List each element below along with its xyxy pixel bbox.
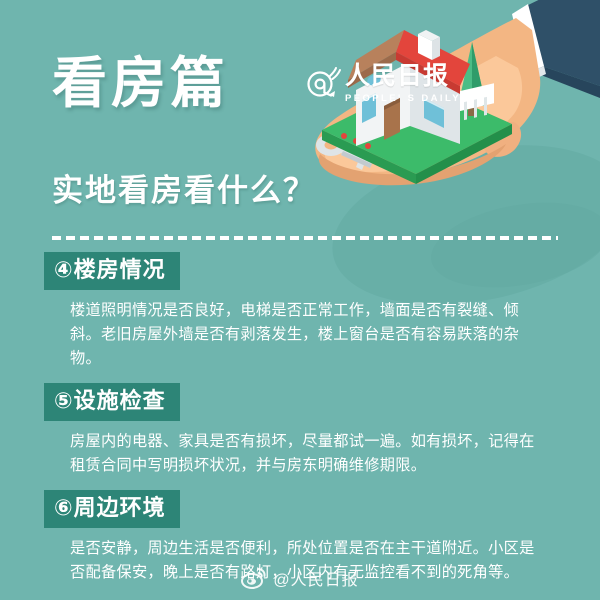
hand-holding-house-illustration: [300, 0, 600, 244]
pine-tree-icon: [458, 42, 486, 116]
section-body: 房屋内的电器、家具是否有损坏，尽量都试一遍。如有损坏，记得在租赁合同中写明损坏状…: [70, 430, 544, 478]
poster-root: 人民日报 PEOPLE' S DAILY 看房篇 实地看房看什么？ ④楼房情况 …: [0, 0, 600, 600]
key-icon: [316, 134, 372, 170]
masthead-logo: 人民日报 PEOPLE' S DAILY: [305, 64, 461, 104]
section-body: 楼道照明情况是否良好，电梯是否正常工作，墙面是否有裂缝、倾斜。老旧房屋外墙是否有…: [70, 299, 544, 371]
section-item: ⑤设施检查 房屋内的电器、家具是否有损坏，尽量都试一遍。如有损坏，记得在租赁合同…: [44, 383, 564, 478]
lawn-flowers: [341, 133, 371, 149]
sub-title: 实地看房看什么？: [52, 175, 316, 206]
brand-name-cn: 人民日报: [345, 64, 461, 89]
suit-sleeve-icon: [512, 0, 600, 98]
section-badge: ⑤设施检查: [44, 383, 180, 421]
sections-list: ④楼房情况 楼道照明情况是否良好，电梯是否正常工作，墙面是否有裂缝、倾斜。老旧房…: [44, 252, 564, 597]
footer-label: @人民日报: [273, 566, 358, 590]
weibo-icon: [241, 567, 267, 589]
main-title: 看房篇: [52, 56, 229, 111]
section-item: ④楼房情况 楼道照明情况是否良好，电梯是否正常工作，墙面是否有裂缝、倾斜。老旧房…: [44, 252, 564, 371]
section-badge: ⑥周边环境: [44, 490, 180, 528]
dashed-divider: [52, 236, 558, 240]
section-badge: ④楼房情况: [44, 252, 180, 290]
at-signal-icon: [305, 64, 343, 104]
footer-watermark: @人民日报: [0, 566, 600, 590]
brand-name-en: PEOPLE' S DAILY: [345, 94, 461, 104]
